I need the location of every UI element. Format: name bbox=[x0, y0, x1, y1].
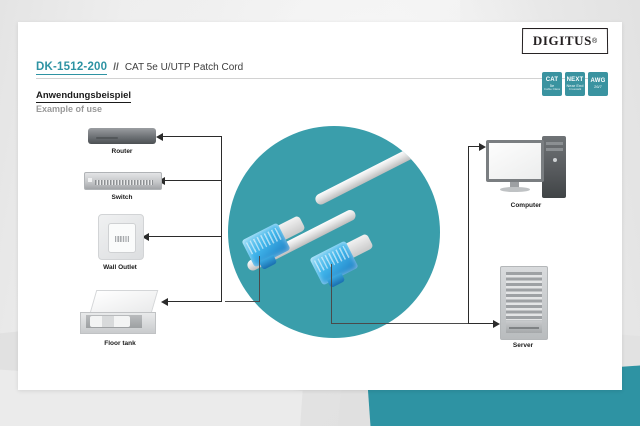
content-sheet: DIGITUS® DK-1512-200 // CAT 5e U/UTP Pat… bbox=[18, 22, 622, 390]
spec-badges: CAT 5e Cable Class NEXT Near End Crossta… bbox=[542, 72, 608, 96]
router-icon bbox=[88, 128, 156, 144]
wire-to-floor-tank bbox=[168, 301, 222, 302]
computer-drive-slot2-icon bbox=[546, 148, 563, 151]
product-title-row: DK-1512-200 // CAT 5e U/UTP Patch Cord bbox=[36, 61, 243, 75]
product-photo-circle bbox=[228, 126, 440, 338]
wire-to-wall-outlet bbox=[149, 236, 222, 237]
product-code: DK-1512-200 bbox=[36, 61, 107, 75]
wire-to-router bbox=[163, 136, 222, 137]
floor-tank-label: Floor tank bbox=[78, 340, 162, 347]
computer-monitor bbox=[486, 140, 544, 182]
switch-ports-icon bbox=[95, 180, 153, 185]
cat-badge-line3: Cable Class bbox=[544, 88, 560, 91]
section-title-de: Anwendungsbeispiel bbox=[36, 90, 131, 103]
awg-badge-line2: 26/7 bbox=[594, 85, 602, 89]
arrow-router bbox=[156, 133, 163, 141]
wall-outlet-icon bbox=[98, 214, 144, 260]
awg-badge: AWG 26/7 bbox=[588, 72, 608, 96]
leader-line-left-connector-horizontal bbox=[225, 301, 260, 302]
digitus-logo: DIGITUS® bbox=[522, 28, 608, 54]
leader-line-right-connector-horizontal bbox=[331, 323, 469, 324]
computer-icon bbox=[486, 136, 566, 198]
arrow-floor-tank bbox=[161, 298, 168, 306]
left-trunk-line bbox=[221, 136, 222, 302]
computer-label: Computer bbox=[486, 202, 566, 209]
usage-diagram: Router Switch Wall Outlet Floor tank bbox=[18, 114, 622, 390]
switch-label: Switch bbox=[84, 194, 160, 201]
next-badge-line3: Crosstalk bbox=[569, 88, 582, 91]
floor-tank-sockets-icon bbox=[90, 316, 130, 327]
section-title-en: Example of use bbox=[36, 104, 102, 114]
product-name: CAT 5e U/UTP Patch Cord bbox=[125, 62, 243, 73]
switch-icon bbox=[84, 172, 162, 190]
wire-to-switch bbox=[165, 180, 222, 181]
server-icon bbox=[500, 266, 548, 340]
next-badge: NEXT Near End Crosstalk bbox=[565, 72, 585, 96]
floor-tank-icon bbox=[78, 290, 162, 334]
wall-outlet-label: Wall Outlet bbox=[80, 264, 160, 271]
server-panel-line bbox=[509, 327, 539, 329]
server-drive-bays-icon bbox=[506, 272, 542, 320]
switch-led-icon bbox=[88, 178, 92, 182]
title-separator: // bbox=[113, 62, 119, 73]
cat-badge: CAT 5e Cable Class bbox=[542, 72, 562, 96]
cat-badge-line1: CAT bbox=[546, 77, 559, 83]
header-divider bbox=[36, 78, 608, 79]
right-trunk-line bbox=[468, 146, 469, 324]
digitus-logo-text: DIGITUS bbox=[533, 33, 592, 49]
wall-outlet-faceplate bbox=[108, 223, 136, 253]
patch-cord-cable-upper bbox=[314, 129, 440, 207]
wire-to-server bbox=[468, 323, 494, 324]
arrow-computer bbox=[479, 143, 486, 151]
router-label: Router bbox=[88, 148, 156, 155]
computer-tower bbox=[542, 136, 566, 198]
rj45-contacts-left bbox=[246, 227, 282, 254]
server-label: Server bbox=[490, 342, 556, 349]
computer-screen bbox=[489, 143, 541, 179]
next-badge-line1: NEXT bbox=[567, 77, 584, 83]
leader-line-left-connector-vertical bbox=[259, 256, 260, 302]
arrow-server bbox=[493, 320, 500, 328]
computer-power-button-icon bbox=[553, 158, 557, 162]
leader-line-right-connector-vertical bbox=[331, 264, 332, 324]
computer-drive-slot-icon bbox=[546, 142, 563, 145]
wall-outlet-jack-icon bbox=[115, 236, 129, 242]
computer-monitor-base bbox=[500, 187, 530, 192]
registered-trademark-icon: ® bbox=[592, 38, 597, 45]
